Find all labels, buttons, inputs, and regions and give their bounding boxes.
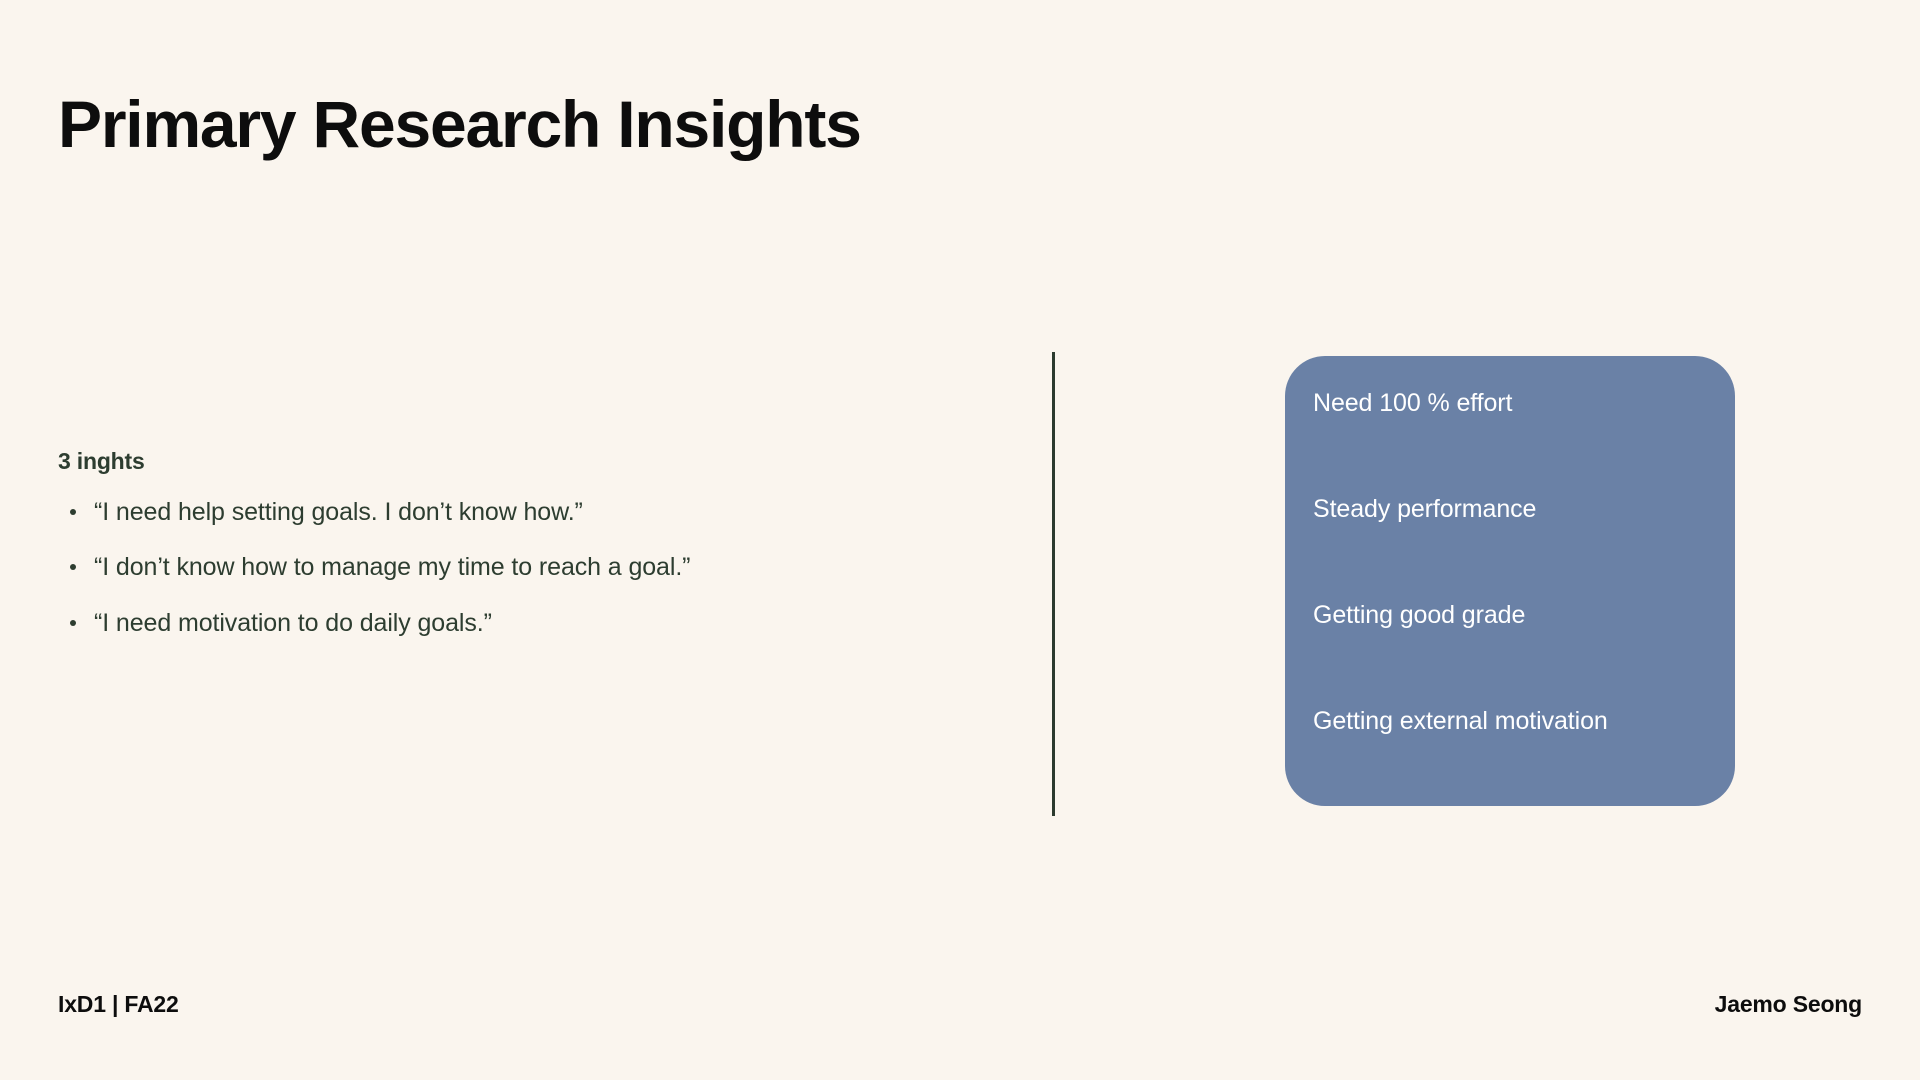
list-item: “I need help setting goals. I don’t know…	[58, 497, 958, 528]
themes-card: Need 100 % effort Steady performance Get…	[1285, 356, 1735, 806]
list-item: “I don’t know how to manage my time to r…	[58, 552, 958, 583]
insight-quote-text: “I need motivation to do daily goals.”	[94, 609, 492, 637]
theme-line: Need 100 % effort	[1313, 388, 1707, 418]
slide-canvas: Primary Research Insights 3 inghts “I ne…	[0, 0, 1920, 1080]
page-title: Primary Research Insights	[58, 88, 861, 161]
vertical-divider	[1052, 352, 1055, 816]
bullet-icon	[70, 564, 76, 570]
insights-heading: 3 inghts	[58, 448, 958, 475]
insights-list: “I need help setting goals. I don’t know…	[58, 497, 958, 639]
insight-quote-text: “I need help setting goals. I don’t know…	[94, 498, 583, 526]
theme-line: Steady performance	[1313, 494, 1707, 524]
footer-course-label: IxD1 | FA22	[58, 991, 179, 1018]
insight-quote-text: “I don’t know how to manage my time to r…	[94, 553, 690, 581]
footer-author-name: Jaemo Seong	[1715, 991, 1862, 1018]
bullet-icon	[70, 509, 76, 515]
bullet-icon	[70, 620, 76, 626]
list-item: “I need motivation to do daily goals.”	[58, 608, 958, 639]
insights-block: 3 inghts “I need help setting goals. I d…	[58, 448, 958, 639]
theme-line: Getting external motivation	[1313, 706, 1707, 736]
theme-line: Getting good grade	[1313, 600, 1707, 630]
